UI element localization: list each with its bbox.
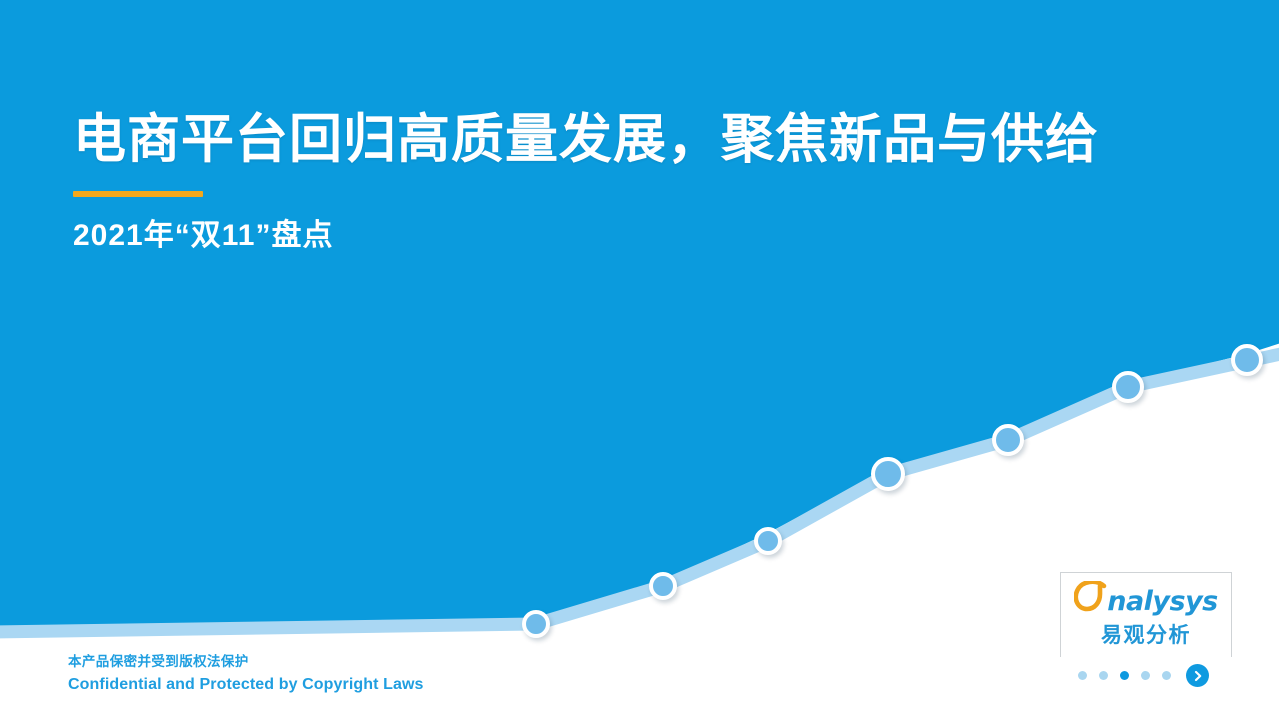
page-subtitle: 2021年“双11”盘点 — [73, 210, 1233, 254]
data-point-marker — [871, 457, 905, 491]
logo-wordmark-text: nalysys — [1107, 588, 1218, 615]
data-point-marker — [522, 610, 550, 638]
title-block: 电商平台回归高质量发展，聚焦新品与供给 2021年“双11”盘点 — [73, 108, 1233, 254]
page-title: 电商平台回归高质量发展，聚焦新品与供给 — [73, 108, 1233, 173]
pager-dot-3[interactable] — [1120, 671, 1129, 680]
data-point-marker — [1231, 344, 1263, 376]
chevron-right-icon — [1192, 670, 1204, 682]
slide-pager[interactable] — [1078, 664, 1209, 687]
logo-chinese-name: 易观分析 — [1101, 619, 1191, 649]
data-point-marker — [754, 527, 782, 555]
title-accent-rule — [73, 191, 203, 197]
data-point-marker — [992, 424, 1024, 456]
confidential-notice: 本产品保密并受到版权法保护 Confidential and Protected… — [68, 652, 424, 696]
confidential-notice-en: Confidential and Protected by Copyright … — [68, 673, 424, 696]
analysys-swoosh-a-icon — [1074, 581, 1110, 615]
pager-dot-5[interactable] — [1162, 671, 1171, 680]
pager-dot-4[interactable] — [1141, 671, 1150, 680]
confidential-notice-cn: 本产品保密并受到版权法保护 — [68, 652, 424, 673]
logo-wordmark: nalysys — [1074, 581, 1218, 615]
slide-canvas: 电商平台回归高质量发展，聚焦新品与供给 2021年“双11”盘点 本产品保密并受… — [0, 0, 1279, 719]
pager-dot-1[interactable] — [1078, 671, 1087, 680]
data-point-marker — [1112, 371, 1144, 403]
next-slide-button[interactable] — [1186, 664, 1209, 687]
pager-dot-2[interactable] — [1099, 671, 1108, 680]
brand-logo-card: nalysys 易观分析 — [1060, 572, 1232, 657]
data-point-marker — [649, 572, 677, 600]
